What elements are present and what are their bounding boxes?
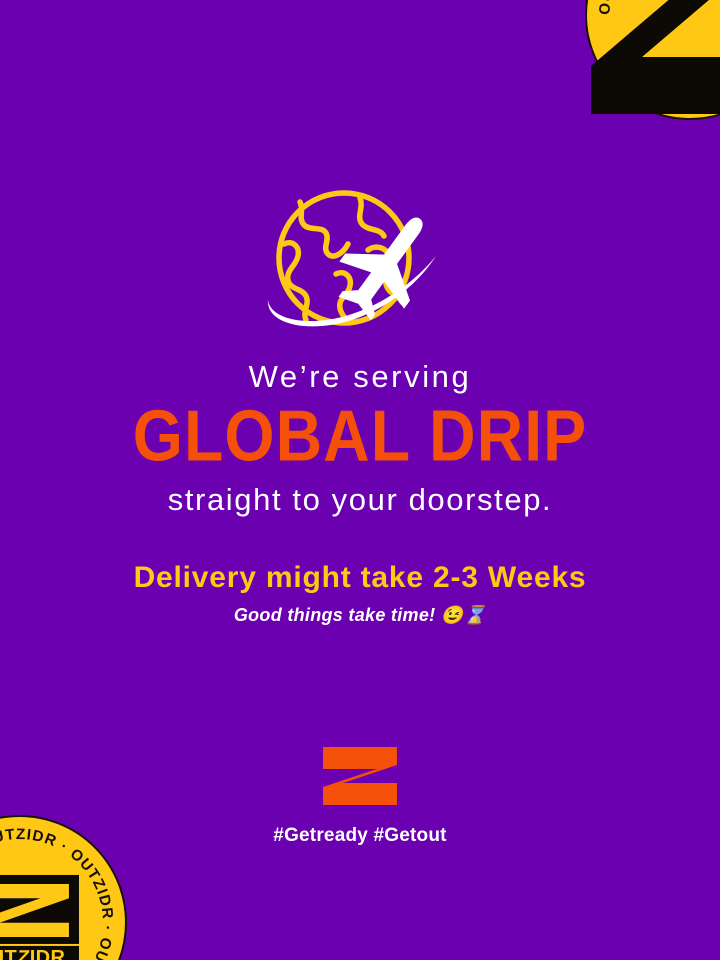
badge-wordmark: OUTZIDR [0, 946, 79, 960]
badge-z-mark-top-right [582, 0, 720, 117]
wordmark-right: IDR [30, 947, 66, 960]
promo-poster: OUTZIDR · OUTZIDR · OUTZIDR · OUTZIDR · [0, 0, 720, 960]
poster-copy-block: We’re serving GLOBAL DRIP straight to yo… [0, 360, 720, 627]
outzidr-badge-bottom-left: OUTZIDR · OUTZIDR · OUTZIDR · OUTZIDR · … [0, 815, 127, 960]
delivery-notice-text: Delivery might take 2-3 Weeks [0, 561, 720, 594]
wordmark-z: Z [15, 948, 31, 960]
wordmark-left: OUT [0, 947, 17, 960]
delivery-sub-text: Good things take time! 😉⌛ [0, 605, 720, 627]
badge-z-mark-bottom-left [0, 874, 79, 943]
outzidr-badge-top-right: OUTZIDR · OUTZIDR · OUTZIDR · OUTZIDR · [585, 0, 720, 120]
subhead-text: straight to your doorstep. [0, 483, 720, 517]
headline-text: GLOBAL DRIP [0, 399, 720, 475]
outzidr-logomark [321, 745, 399, 807]
eyebrow-text: We’re serving [0, 360, 720, 394]
globe-icon [240, 178, 480, 338]
outzidr-z-icon [0, 881, 71, 938]
outzidr-z-icon [582, 0, 720, 117]
globe-airplane-graphic [0, 178, 720, 338]
outzidr-z-icon [321, 745, 399, 807]
badge-core-bottom-left: OUTZIDR [0, 874, 79, 960]
